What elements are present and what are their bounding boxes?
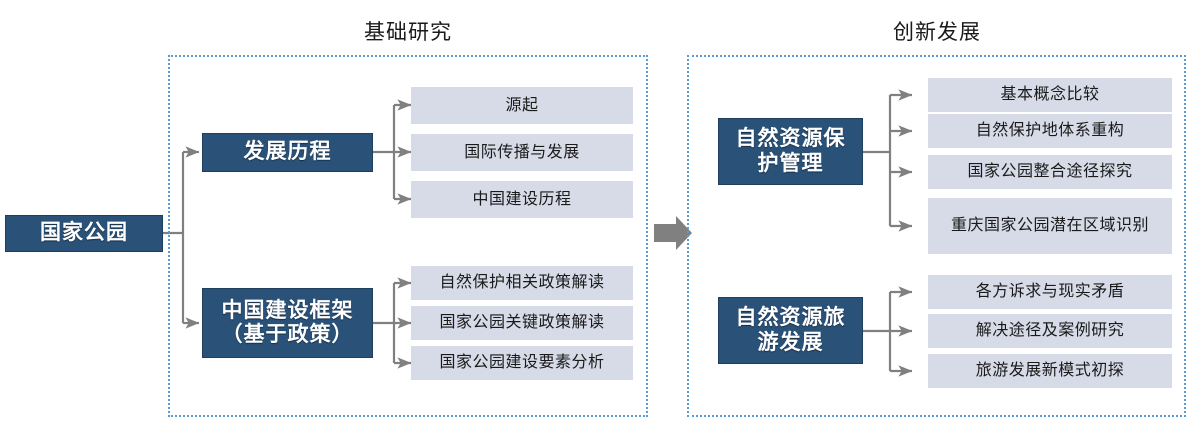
branch-node-china-construction-framework-label-line1: 中国建设框架 <box>203 299 372 323</box>
leaf-node-integration-path-exploration-label: 国家公园整合途径探究 <box>928 162 1172 181</box>
leaf-node-solution-case-study-label: 解决途径及案例研究 <box>928 321 1172 340</box>
branch-node-development-history[interactable]: 发展历程 <box>202 133 373 172</box>
branch-node-natural-resource-protection-label-line1: 自然资源保 <box>719 127 862 151</box>
leaf-node-construction-element-analysis[interactable]: 国家公园建设要素分析 <box>411 346 633 380</box>
leaf-node-national-park-key-policy-label: 国家公园关键政策解读 <box>411 313 633 332</box>
leaf-node-construction-element-analysis-label: 国家公园建设要素分析 <box>411 353 633 372</box>
leaf-node-stakeholder-conflicts[interactable]: 各方诉求与现实矛盾 <box>928 275 1172 309</box>
leaf-node-protected-area-system-restructure-label: 自然保护地体系重构 <box>928 121 1172 140</box>
leaf-node-chongqing-potential-area[interactable]: 重庆国家公园潜在区域识别 <box>928 198 1172 254</box>
leaf-node-new-tourism-model[interactable]: 旅游发展新模式初探 <box>928 354 1172 388</box>
branch-node-china-construction-framework[interactable]: 中国建设框架 （基于政策） <box>202 288 373 358</box>
leaf-node-china-construction-history[interactable]: 中国建设历程 <box>411 181 633 218</box>
section-title-innovation-development: 创新发展 <box>847 16 1027 46</box>
leaf-node-china-construction-history-label: 中国建设历程 <box>411 190 633 209</box>
leaf-node-international-spread-label: 国际传播与发展 <box>411 143 633 162</box>
root-node-label: 国家公园 <box>6 221 162 245</box>
leaf-node-international-spread[interactable]: 国际传播与发展 <box>411 134 633 171</box>
leaf-node-nature-protection-policy-label: 自然保护相关政策解读 <box>411 273 633 292</box>
leaf-node-nature-protection-policy[interactable]: 自然保护相关政策解读 <box>411 266 633 300</box>
leaf-node-basic-concept-comparison-label: 基本概念比较 <box>928 85 1172 104</box>
diagram-canvas: 基础研究 创新发展 国家公园 发展历程 源起 国际传播与发展 中国建设历程 中国… <box>0 0 1200 441</box>
leaf-node-solution-case-study[interactable]: 解决途径及案例研究 <box>928 314 1172 348</box>
leaf-node-origin[interactable]: 源起 <box>411 87 633 124</box>
branch-node-natural-resource-protection-label-line2: 护管理 <box>719 152 862 176</box>
branch-node-natural-resource-protection[interactable]: 自然资源保 护管理 <box>718 118 863 185</box>
branch-node-natural-resource-tourism[interactable]: 自然资源旅 游发展 <box>718 297 863 364</box>
branch-node-development-history-label: 发展历程 <box>203 140 372 164</box>
leaf-node-basic-concept-comparison[interactable]: 基本概念比较 <box>928 78 1172 112</box>
leaf-node-stakeholder-conflicts-label: 各方诉求与现实矛盾 <box>928 282 1172 301</box>
branch-node-natural-resource-tourism-label-line1: 自然资源旅 <box>719 306 862 330</box>
branch-node-natural-resource-tourism-label-line2: 游发展 <box>719 331 862 355</box>
leaf-node-chongqing-potential-area-label: 重庆国家公园潜在区域识别 <box>928 216 1172 236</box>
leaf-node-new-tourism-model-label: 旅游发展新模式初探 <box>928 361 1172 380</box>
branch-node-china-construction-framework-label-line2: （基于政策） <box>203 323 372 347</box>
leaf-node-integration-path-exploration[interactable]: 国家公园整合途径探究 <box>928 155 1172 189</box>
section-title-basic-research: 基础研究 <box>318 16 498 46</box>
root-node-national-park[interactable]: 国家公园 <box>5 215 163 252</box>
leaf-node-origin-label: 源起 <box>411 96 633 115</box>
leaf-node-protected-area-system-restructure[interactable]: 自然保护地体系重构 <box>928 114 1172 148</box>
leaf-node-national-park-key-policy[interactable]: 国家公园关键政策解读 <box>411 306 633 340</box>
